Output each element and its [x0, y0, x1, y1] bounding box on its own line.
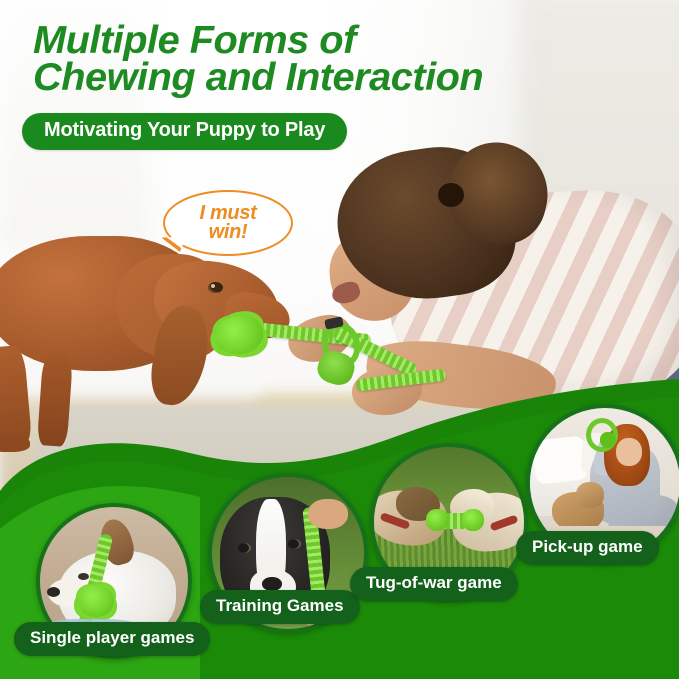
woman-face [616, 438, 642, 466]
speech-bubble: I must win! [163, 190, 293, 256]
sofa-cushion-left [532, 435, 588, 484]
green-toy-head [78, 585, 114, 617]
subtitle-pill: Motivating Your Puppy to Play [22, 113, 347, 150]
thumbnail-label-single-player: Single player games [14, 622, 210, 656]
product-feature-poster: Multiple Forms of Chewing and Interactio… [0, 0, 679, 679]
pitbull-nose [262, 577, 282, 591]
green-toy-end-left [426, 509, 448, 531]
hair-tie [438, 183, 464, 207]
speech-bubble-text: I must win! [199, 204, 256, 242]
thumbnail-label-training: Training Games [200, 590, 360, 624]
dog-eye [208, 282, 223, 293]
thumbnail-label-pick-up: Pick-up game [516, 531, 659, 565]
small-dog-head [576, 482, 604, 508]
pitbull-eye-left [238, 543, 251, 553]
page-title: Multiple Forms of Chewing and Interactio… [33, 22, 655, 96]
green-toy-head [600, 432, 616, 448]
green-toy-end-right [462, 509, 484, 531]
white-dog-nose [47, 587, 60, 597]
dog-eye-highlight [211, 284, 215, 288]
white-dog-eye [78, 573, 89, 580]
human-hand-top [308, 499, 348, 529]
pitbull-eye-right [288, 539, 301, 549]
thumbnail-label-tug-of-war: Tug-of-war game [350, 567, 518, 601]
